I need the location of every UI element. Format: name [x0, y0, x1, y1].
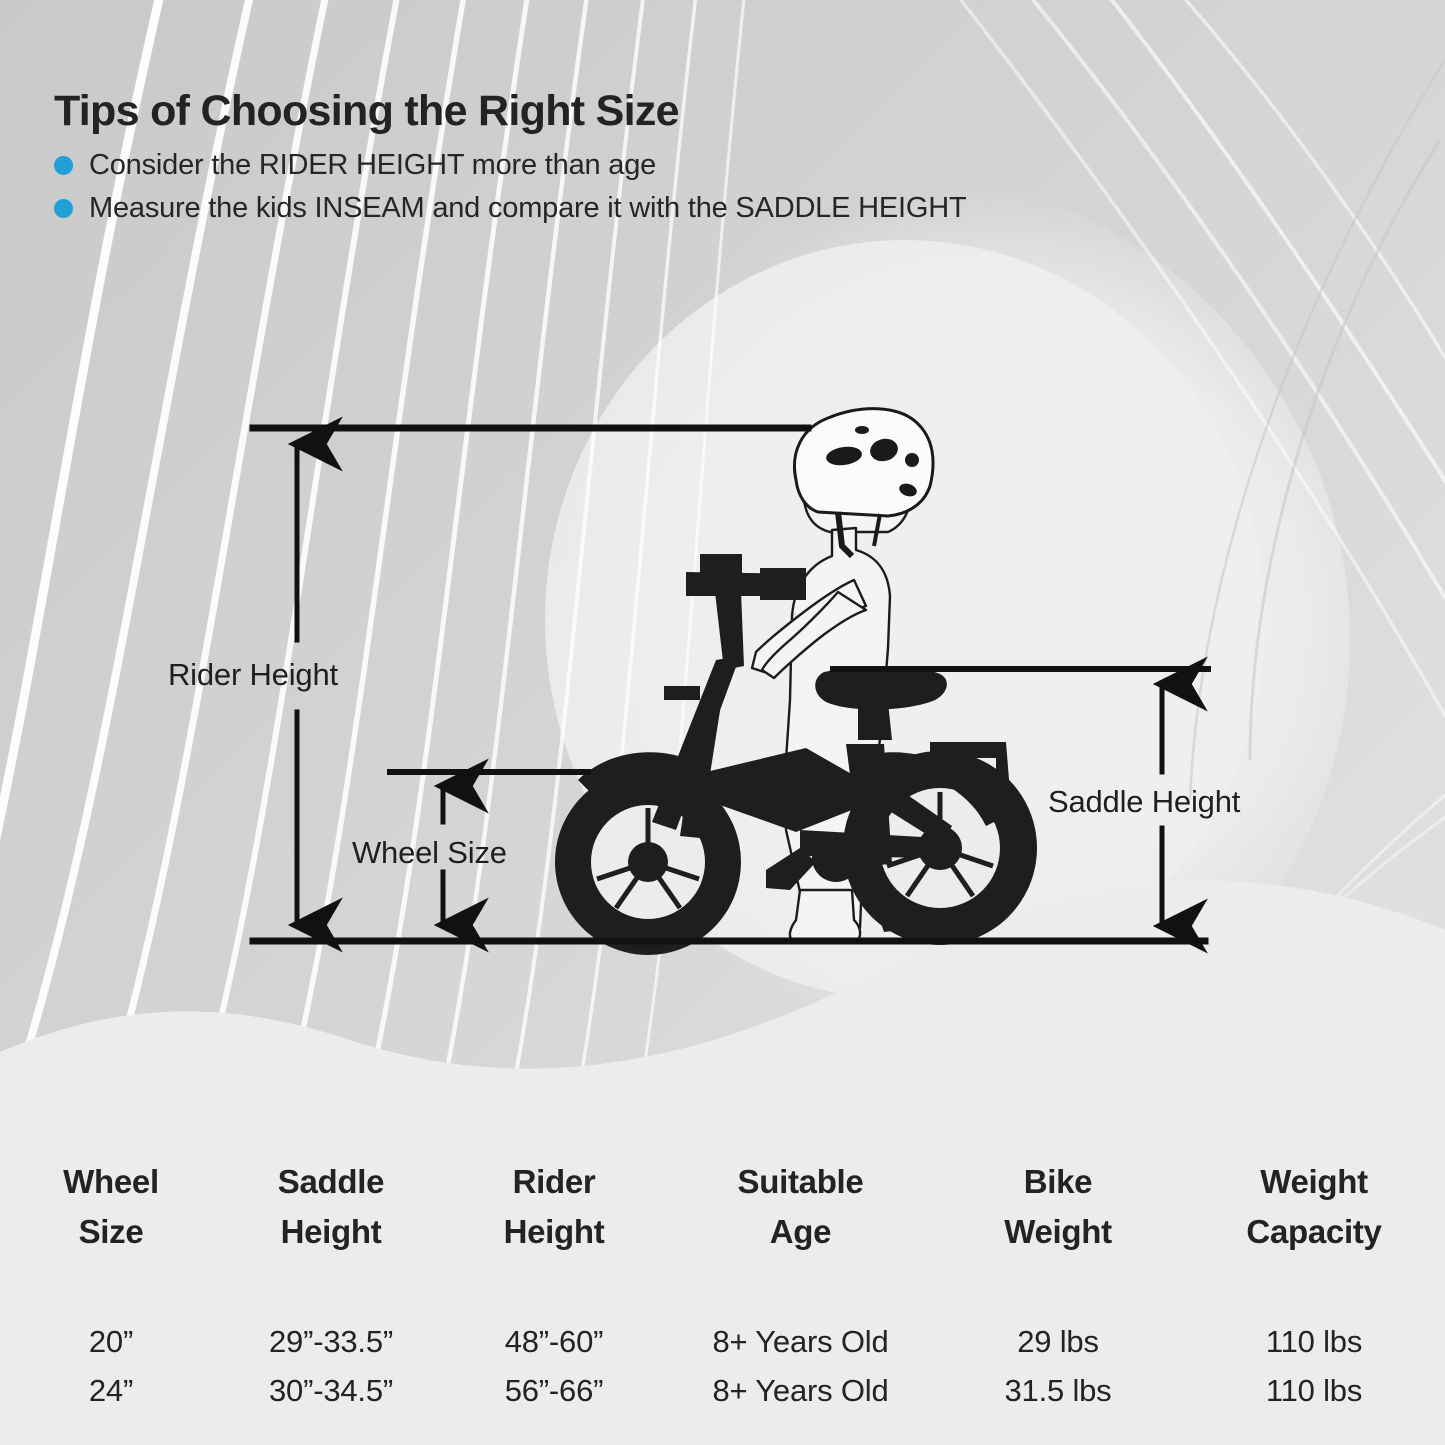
bike-and-rider-illustration	[555, 409, 1037, 955]
col-header-bike-weight: Bike Weight	[933, 1157, 1183, 1257]
cell-rider-height: 56”-66”	[440, 1366, 668, 1415]
header-line-1: Wheel	[63, 1163, 159, 1200]
cell-rider-height: 48”-60”	[440, 1257, 668, 1366]
header-line-1: Suitable	[738, 1163, 864, 1200]
saddle-height-label: Saddle Height	[1048, 784, 1240, 820]
cell-suitable-age: 8+ Years Old	[668, 1366, 933, 1415]
table-row: 20” 29”-33.5” 48”-60” 8+ Years Old 29 lb…	[0, 1257, 1445, 1366]
header-line-1: Bike	[1024, 1163, 1093, 1200]
rider-height-label: Rider Height	[168, 657, 338, 693]
col-header-wheel-size: Wheel Size	[0, 1157, 222, 1257]
helmet-icon	[794, 409, 933, 556]
header-line-2: Size	[0, 1207, 222, 1257]
cell-saddle-height: 29”-33.5”	[222, 1257, 440, 1366]
cell-suitable-age: 8+ Years Old	[668, 1257, 933, 1366]
cell-weight-capacity: 110 lbs	[1183, 1366, 1445, 1415]
table-header-row: Wheel Size Saddle Height Rider Height Su…	[0, 1157, 1445, 1257]
header-line-2: Height	[440, 1207, 668, 1257]
col-header-rider-height: Rider Height	[440, 1157, 668, 1257]
spec-table: Wheel Size Saddle Height Rider Height Su…	[0, 1157, 1445, 1415]
cell-wheel-size: 20”	[0, 1257, 222, 1366]
cell-bike-weight: 29 lbs	[933, 1257, 1183, 1366]
wheel-size-label: Wheel Size	[352, 835, 507, 871]
header-line-2: Height	[222, 1207, 440, 1257]
header-line-1: Weight	[1260, 1163, 1368, 1200]
size-guide-infographic: Tips of Choosing the Right Size Consider…	[0, 0, 1445, 1445]
cell-bike-weight: 31.5 lbs	[933, 1366, 1183, 1415]
header-line-2: Capacity	[1183, 1207, 1445, 1257]
col-header-saddle-height: Saddle Height	[222, 1157, 440, 1257]
col-header-suitable-age: Suitable Age	[668, 1157, 933, 1257]
header-line-1: Saddle	[278, 1163, 384, 1200]
table-row: 24” 30”-34.5” 56”-66” 8+ Years Old 31.5 …	[0, 1366, 1445, 1415]
cell-wheel-size: 24”	[0, 1366, 222, 1415]
header-line-1: Rider	[513, 1163, 596, 1200]
col-header-weight-capacity: Weight Capacity	[1183, 1157, 1445, 1257]
cell-weight-capacity: 110 lbs	[1183, 1257, 1445, 1366]
header-line-2: Weight	[933, 1207, 1183, 1257]
cell-saddle-height: 30”-34.5”	[222, 1366, 440, 1415]
header-line-2: Age	[668, 1207, 933, 1257]
spec-table-area: Wheel Size Saddle Height Rider Height Su…	[0, 1085, 1445, 1445]
